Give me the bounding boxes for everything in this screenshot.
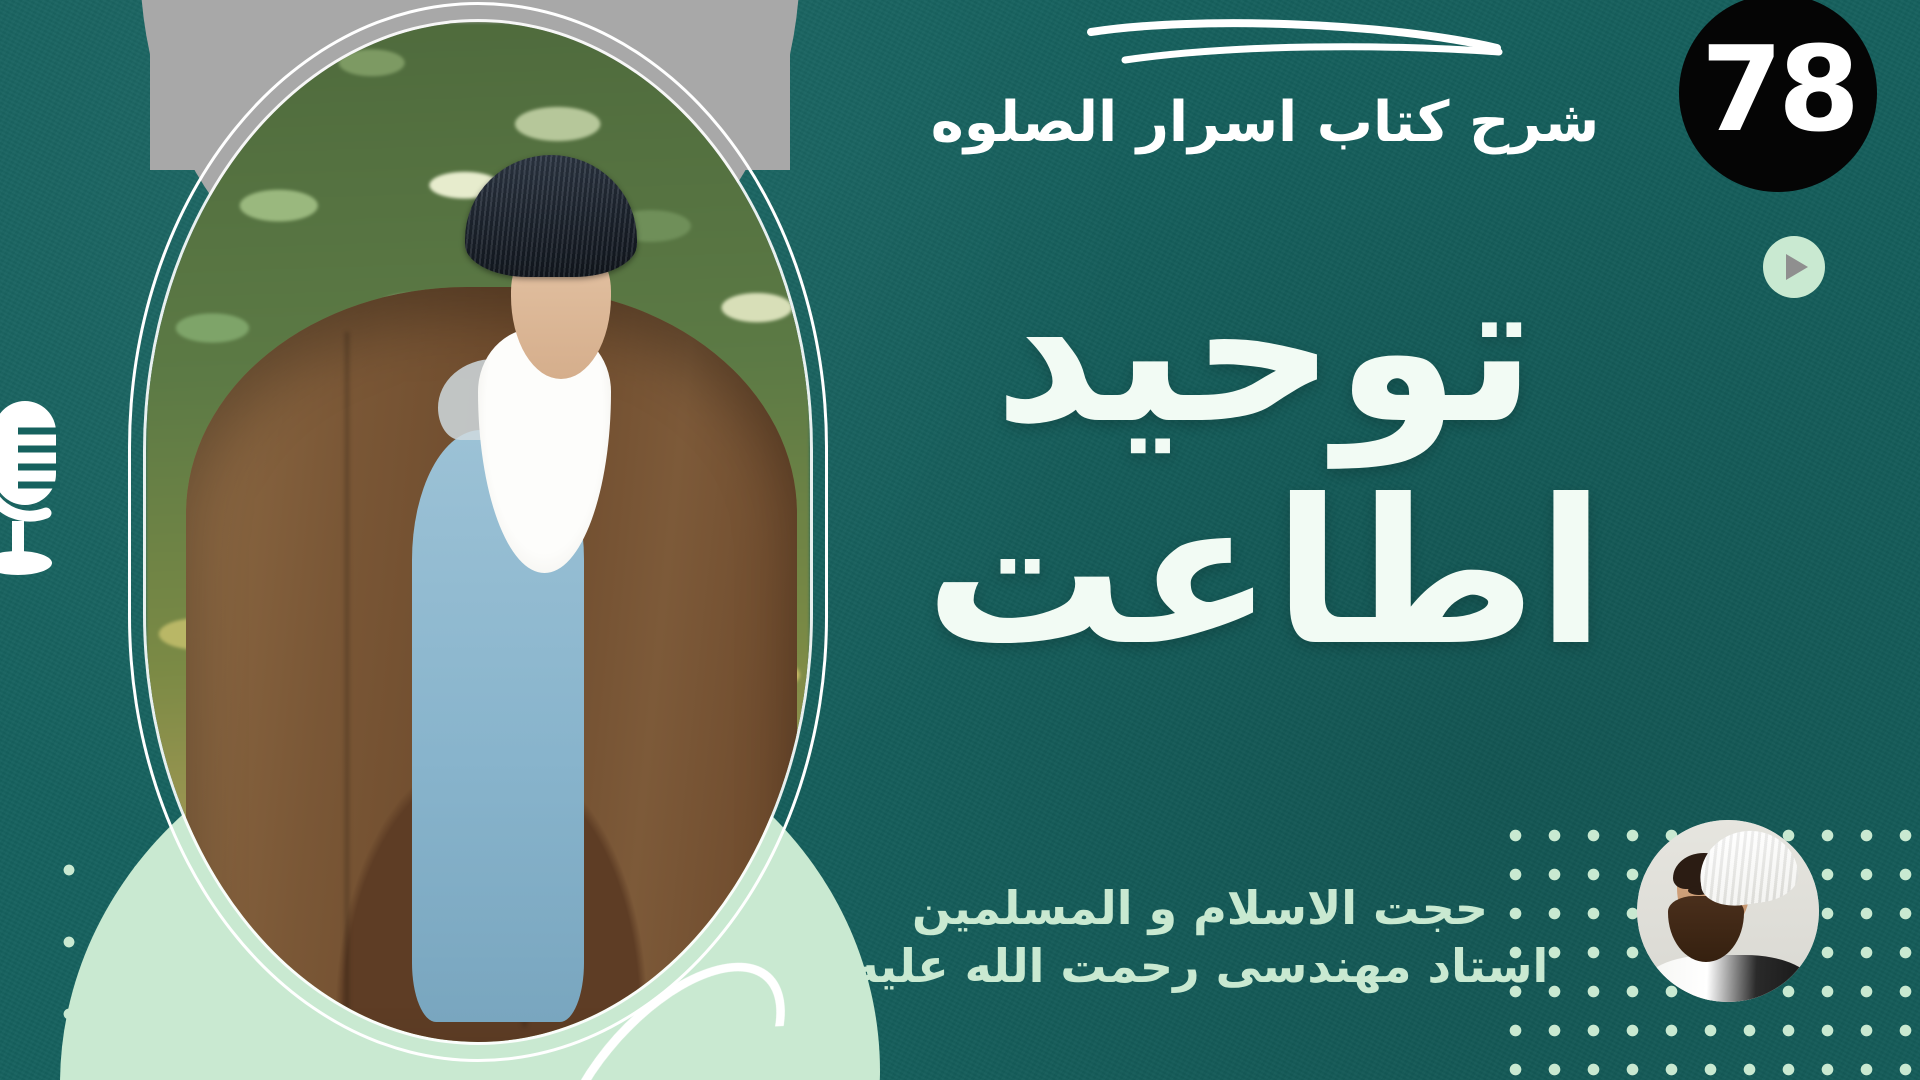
portrait-image (146, 22, 810, 1042)
play-icon (1786, 254, 1808, 280)
dot-grid-left (28, 828, 178, 1080)
brush-underline-decoration (1085, 8, 1505, 78)
cover-canvas: 78 شرح کتاب اسرار الصلوه توحید اطاعت حجت… (0, 0, 1920, 1080)
title-line-1: توحید (760, 250, 1770, 454)
title-line-2: اطاعت (760, 472, 1770, 676)
page-title: توحید اطاعت (760, 250, 1770, 676)
avatar-body (1641, 955, 1816, 1002)
speaker-name: استاد مهندسی رحمت الله علیه (760, 938, 1640, 996)
play-button[interactable] (1763, 236, 1825, 298)
series-subtitle: شرح کتاب اسرار الصلوه (760, 92, 1770, 154)
speaker-credit: حجت الاسلام و المسلمین استاد مهندسی رحمت… (760, 880, 1640, 995)
speaker-title: حجت الاسلام و المسلمین (760, 880, 1640, 938)
main-portrait-photo (128, 2, 828, 1062)
microphone-icon (0, 395, 62, 585)
speaker-avatar (1637, 820, 1819, 1002)
